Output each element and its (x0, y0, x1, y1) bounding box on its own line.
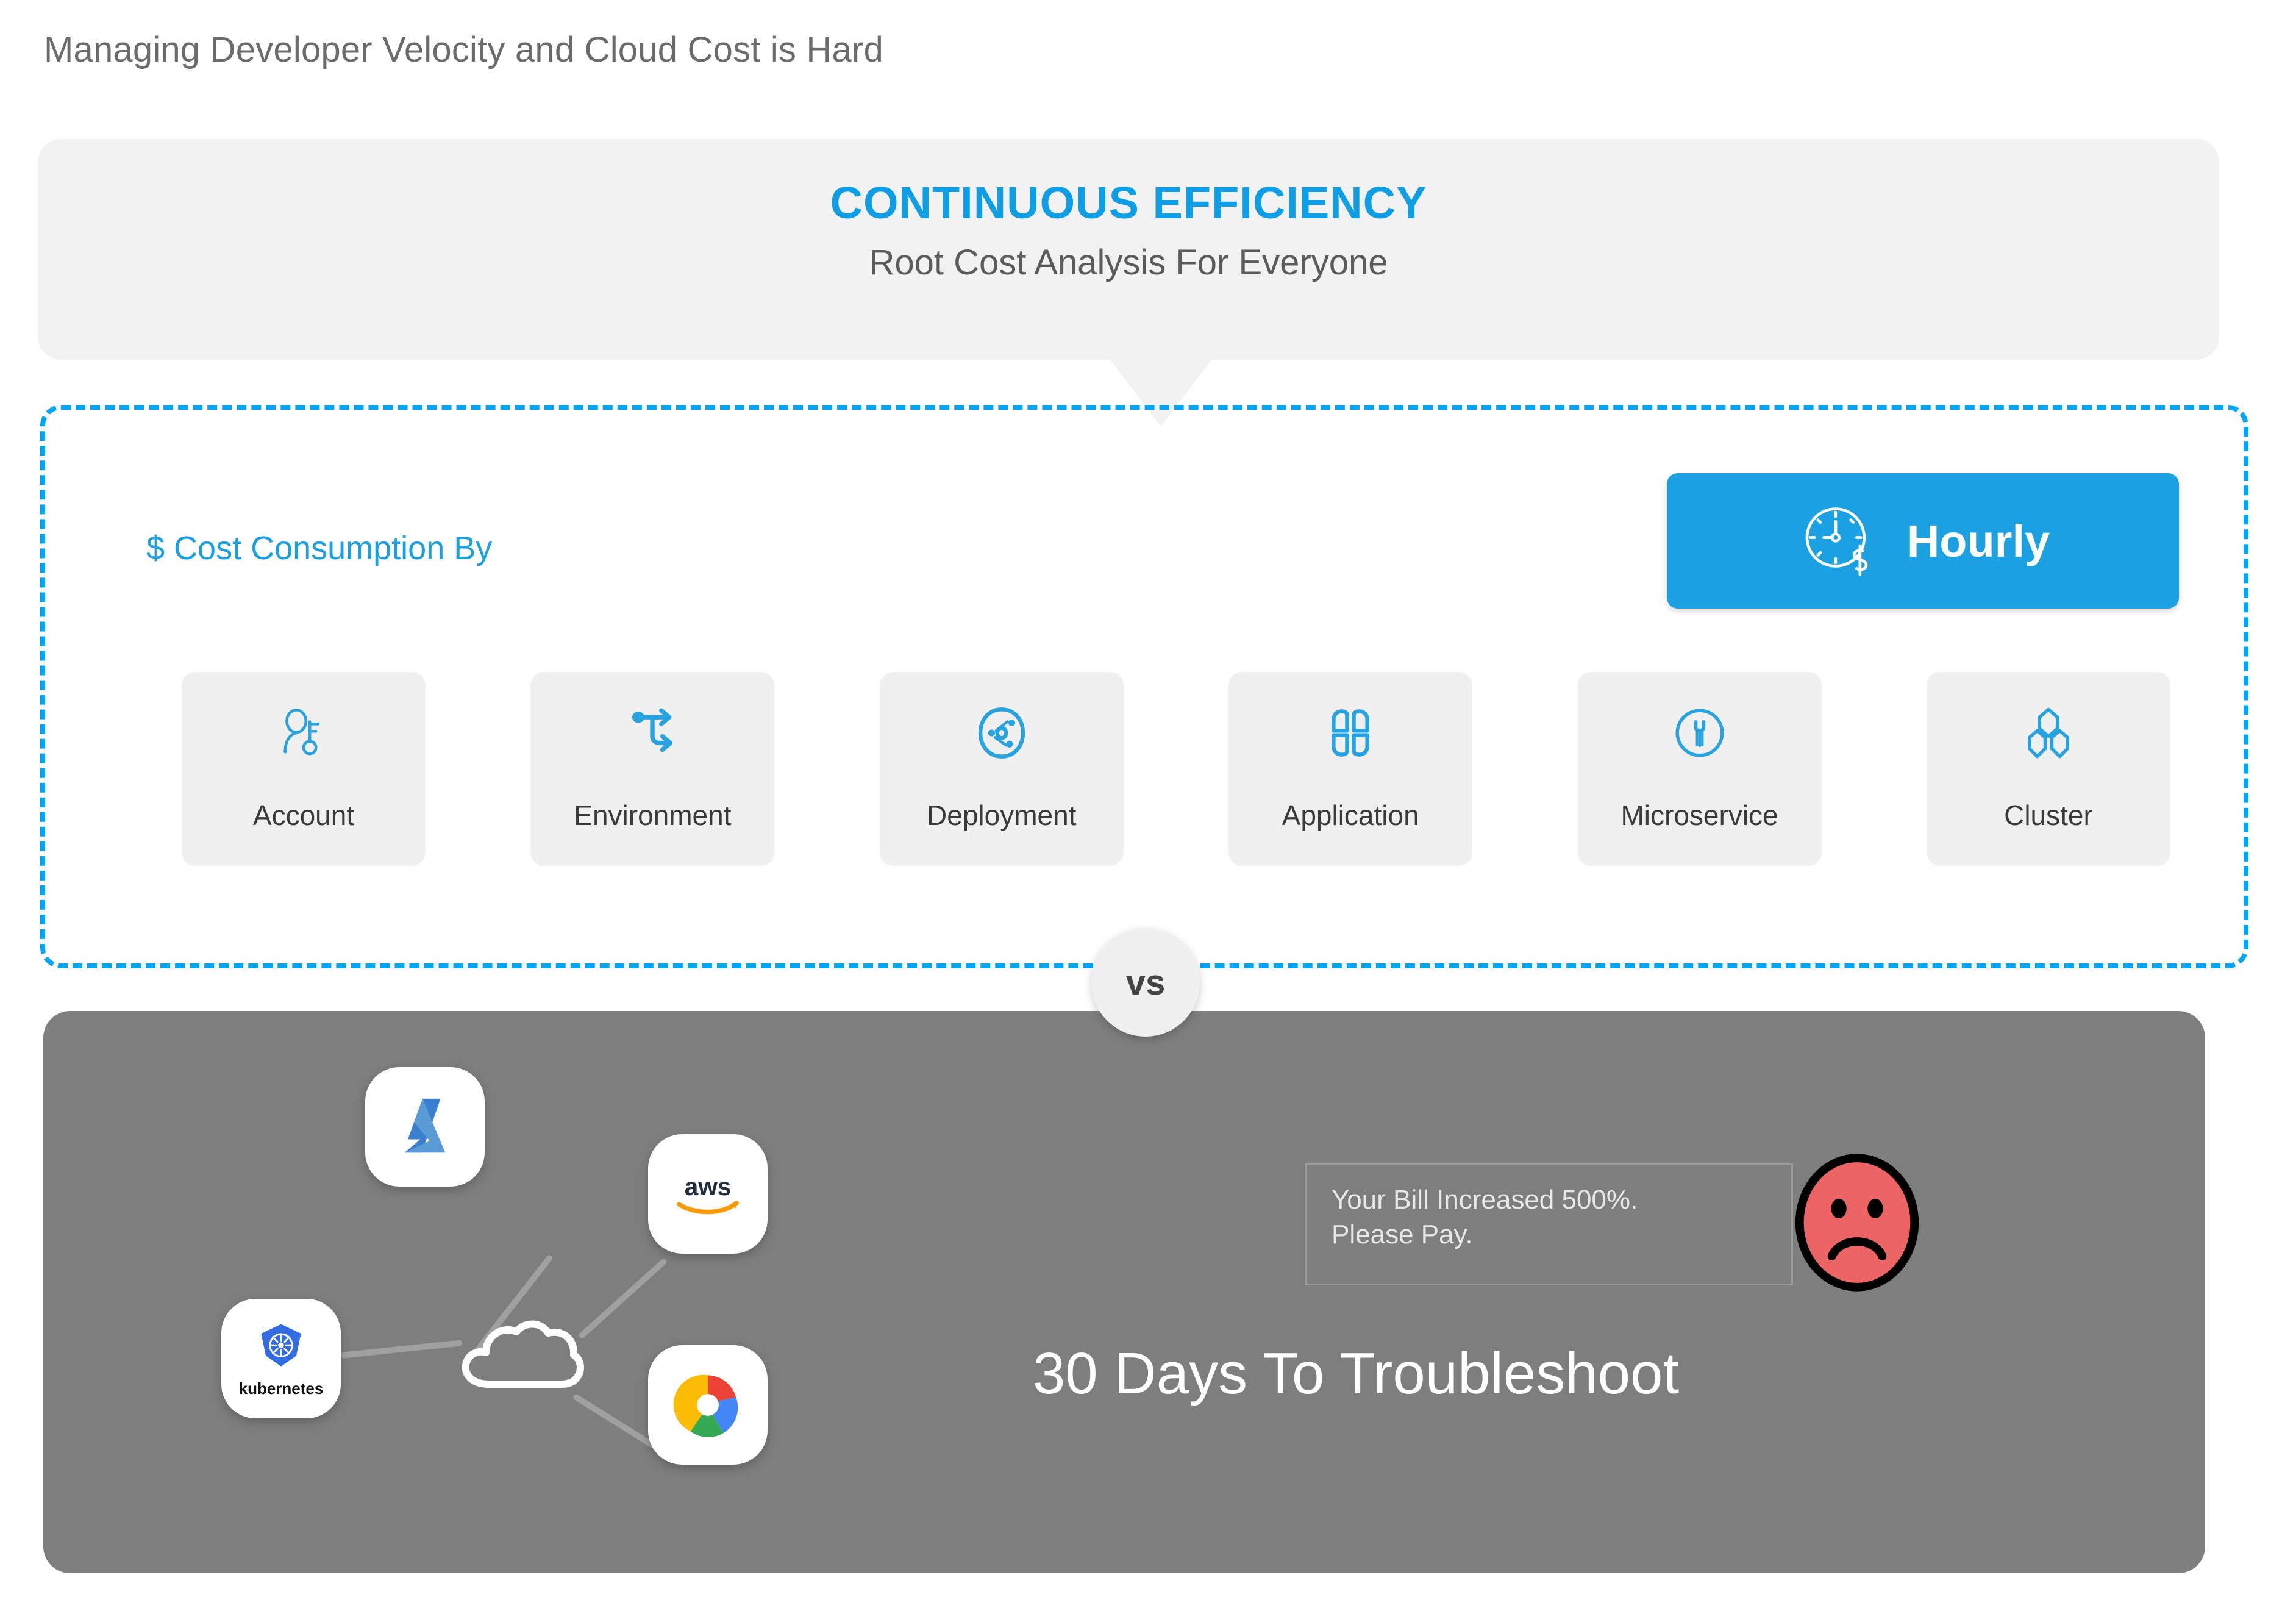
clock-dollar-icon (1796, 499, 1880, 583)
hourly-button-label: Hourly (1907, 515, 2050, 567)
card-label: Account (253, 799, 354, 832)
four-petal-grid-icon (1322, 705, 1378, 761)
cost-dimension-cards: Account Environment (182, 672, 2170, 866)
card-deployment[interactable]: Deployment (880, 672, 1124, 866)
card-label: Microservice (1620, 799, 1778, 832)
branch-arrows-icon (624, 705, 680, 761)
card-environment[interactable]: Environment (530, 672, 774, 866)
cost-consumption-label: $ Cost Consumption By (146, 529, 492, 567)
svg-text:aws: aws (685, 1173, 732, 1201)
card-label: Environment (574, 799, 731, 832)
azure-logo (365, 1067, 485, 1187)
card-microservice[interactable]: Microservice (1578, 672, 1822, 866)
page-title: Managing Developer Velocity and Cloud Co… (44, 29, 883, 70)
cloud-network-diagram: aws (153, 1048, 872, 1535)
card-application[interactable]: Application (1228, 672, 1472, 866)
person-key-icon (276, 705, 332, 761)
card-label: Application (1282, 799, 1419, 832)
bill-notice-box: Your Bill Increased 500%. Please Pay. (1305, 1163, 1793, 1285)
atom-orbit-icon (974, 705, 1030, 761)
card-account[interactable]: Account (182, 672, 426, 866)
hexagon-cluster-icon (2020, 705, 2077, 761)
card-label: Deployment (927, 799, 1076, 832)
banner-subtitle: Root Cost Analysis For Everyone (38, 242, 2219, 283)
troubleshoot-headline: 30 Days To Troubleshoot (43, 1340, 2205, 1407)
bill-line-2: Please Pay. (1332, 1217, 1767, 1252)
continuous-efficiency-banner: CONTINUOUS EFFICIENCY Root Cost Analysis… (38, 139, 2219, 360)
wrench-circle-icon (1672, 705, 1728, 761)
card-label: Cluster (2004, 799, 2093, 832)
bill-line-1: Your Bill Increased 500%. (1332, 1182, 1767, 1217)
card-cluster[interactable]: Cluster (1927, 672, 2170, 866)
link-cloud-aws (578, 1257, 668, 1340)
hourly-button[interactable]: Hourly (1667, 473, 2179, 609)
banner-title: CONTINUOUS EFFICIENCY (38, 177, 2219, 229)
aws-logo: aws (648, 1134, 768, 1254)
problem-panel: aws (43, 1011, 2205, 1573)
solution-panel: $ Cost Consumption By Hourly (40, 405, 2248, 968)
vs-badge: vs (1091, 928, 1200, 1037)
sad-face-icon (1787, 1152, 1927, 1293)
